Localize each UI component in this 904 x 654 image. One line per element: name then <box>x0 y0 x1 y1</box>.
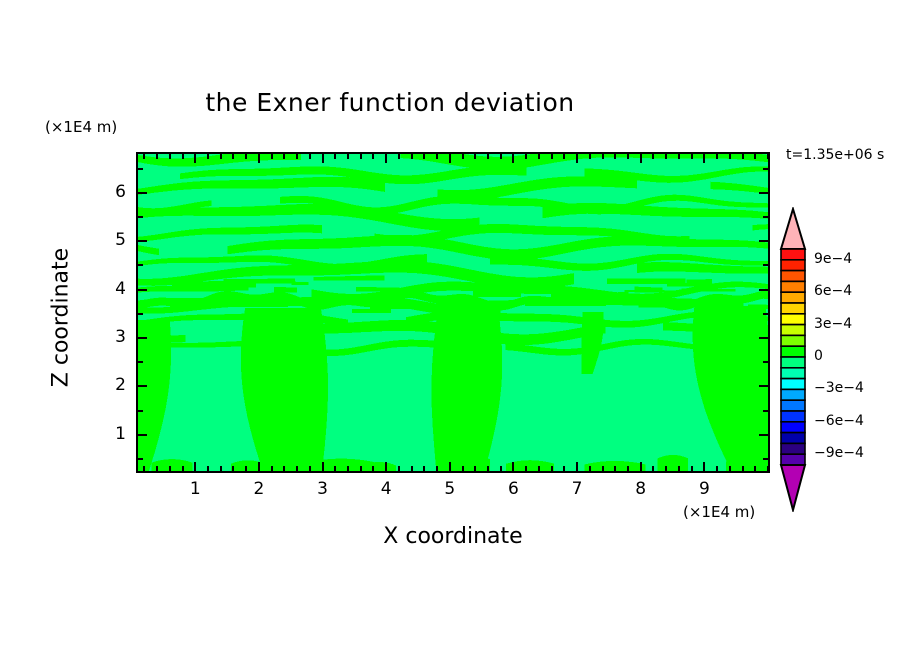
x-tick-minor <box>525 466 527 471</box>
x-tick-label: 8 <box>626 479 656 499</box>
x-axis-units-label: (×1E4 m) <box>683 503 755 521</box>
colorbar-tick-label: 0 <box>814 348 823 364</box>
x-tick-minor <box>398 154 400 159</box>
x-tick-minor <box>360 466 362 471</box>
y-tick-minor <box>138 313 143 315</box>
colorbar-band <box>781 325 805 336</box>
x-tick-major <box>449 462 451 471</box>
x-tick-minor <box>334 466 336 471</box>
y-tick-minor <box>763 410 768 412</box>
y-tick-minor <box>763 313 768 315</box>
colorbar-tick-label: 6e−4 <box>814 283 852 299</box>
x-tick-label: 2 <box>244 479 274 499</box>
x-tick-major <box>385 462 387 471</box>
x-tick-minor <box>538 154 540 159</box>
contour-band-positive <box>686 279 712 284</box>
y-tick-label: 4 <box>96 279 126 299</box>
colorbar-band <box>781 292 805 303</box>
x-tick-minor <box>474 466 476 471</box>
x-tick-minor <box>691 466 693 471</box>
y-tick-major <box>759 385 768 387</box>
colorbar-band <box>781 281 805 292</box>
x-tick-minor <box>283 154 285 159</box>
x-tick-minor <box>271 466 273 471</box>
x-tick-minor <box>742 154 744 159</box>
y-tick-major <box>759 434 768 436</box>
x-tick-minor <box>232 154 234 159</box>
x-tick-major <box>194 462 196 471</box>
x-tick-minor <box>143 154 145 159</box>
colorbar-tick-labels: 9e−46e−43e−40−3e−4−6e−4−9e−4 <box>810 207 900 512</box>
x-tick-minor <box>614 154 616 159</box>
colorbar-band <box>781 433 805 444</box>
y-tick-major <box>138 240 147 242</box>
x-tick-minor <box>182 466 184 471</box>
colorbar-band <box>781 335 805 346</box>
x-tick-minor <box>462 154 464 159</box>
x-tick-minor <box>296 466 298 471</box>
x-axis-title: X coordinate <box>136 524 770 549</box>
x-tick-minor <box>691 154 693 159</box>
x-tick-major <box>703 154 705 163</box>
x-tick-minor <box>551 154 553 159</box>
x-tick-minor <box>271 154 273 159</box>
x-tick-minor <box>729 466 731 471</box>
x-tick-major <box>258 154 260 163</box>
x-tick-minor <box>589 466 591 471</box>
colorbar-band <box>781 260 805 271</box>
y-tick-major <box>759 337 768 339</box>
y-axis-title: Z coordinate <box>49 218 74 418</box>
colorbar-tick-label: −6e−4 <box>814 413 864 429</box>
x-tick-minor <box>487 466 489 471</box>
page-title: the Exner function deviation <box>0 88 780 117</box>
y-tick-major <box>138 289 147 291</box>
x-tick-minor <box>334 154 336 159</box>
x-tick-minor <box>767 466 769 471</box>
x-tick-minor <box>143 466 145 471</box>
y-tick-minor <box>763 361 768 363</box>
colorbar-band <box>781 389 805 400</box>
colorbar-band <box>781 271 805 282</box>
plot-area <box>136 152 770 473</box>
x-tick-minor <box>525 154 527 159</box>
x-tick-major <box>576 462 578 471</box>
x-tick-minor <box>347 466 349 471</box>
colorbar-band <box>781 357 805 368</box>
x-tick-label: 7 <box>562 479 592 499</box>
x-tick-minor <box>716 466 718 471</box>
x-tick-minor <box>245 154 247 159</box>
x-tick-minor <box>411 154 413 159</box>
y-tick-major <box>138 337 147 339</box>
colorbar-band <box>781 454 805 465</box>
x-tick-major <box>322 154 324 163</box>
contour-band-positive <box>352 309 391 314</box>
x-tick-minor <box>245 466 247 471</box>
colorbar-band <box>781 411 805 422</box>
x-tick-minor <box>487 154 489 159</box>
y-tick-major <box>759 289 768 291</box>
contour-band-positive <box>658 455 689 471</box>
y-tick-minor <box>138 410 143 412</box>
x-tick-minor <box>602 466 604 471</box>
contour-field <box>138 154 768 471</box>
x-tick-label: 4 <box>371 479 401 499</box>
x-tick-minor <box>436 466 438 471</box>
x-tick-minor <box>232 466 234 471</box>
x-tick-minor <box>716 154 718 159</box>
x-tick-minor <box>156 466 158 471</box>
x-tick-minor <box>182 154 184 159</box>
x-tick-major <box>194 154 196 163</box>
x-tick-minor <box>589 154 591 159</box>
x-tick-minor <box>665 154 667 159</box>
colorbar-tick-label: −9e−4 <box>814 445 864 461</box>
time-annotation: t=1.35e+06 s <box>786 147 884 163</box>
x-tick-minor <box>754 154 756 159</box>
colorbar-band <box>781 443 805 454</box>
y-axis-units-label: (×1E4 m) <box>45 118 117 136</box>
x-tick-label: 6 <box>498 479 528 499</box>
colorbar-tick-label: 9e−4 <box>814 251 852 267</box>
y-tick-label: 6 <box>96 182 126 202</box>
x-tick-minor <box>169 154 171 159</box>
colorbar-tick-label: 3e−4 <box>814 316 852 332</box>
x-tick-minor <box>207 466 209 471</box>
x-tick-major <box>258 462 260 471</box>
colorbar-tick-label: −3e−4 <box>814 380 864 396</box>
x-tick-minor <box>347 154 349 159</box>
x-tick-minor <box>474 154 476 159</box>
y-tick-major <box>138 192 147 194</box>
x-tick-major <box>640 462 642 471</box>
x-tick-label: 1 <box>180 479 210 499</box>
x-tick-minor <box>309 466 311 471</box>
y-tick-major <box>138 385 147 387</box>
x-tick-minor <box>652 466 654 471</box>
y-tick-label: 1 <box>96 424 126 444</box>
x-tick-major <box>385 154 387 163</box>
y-tick-minor <box>763 216 768 218</box>
x-tick-minor <box>423 154 425 159</box>
x-tick-major <box>512 154 514 163</box>
y-tick-minor <box>763 458 768 460</box>
x-tick-minor <box>678 466 680 471</box>
contour-band-positive <box>224 279 295 284</box>
y-tick-minor <box>138 168 143 170</box>
colorbar-over-arrow <box>781 209 805 249</box>
x-tick-minor <box>538 466 540 471</box>
colorbar-band <box>781 303 805 314</box>
y-tick-minor <box>138 361 143 363</box>
y-tick-minor <box>763 264 768 266</box>
y-tick-major <box>759 240 768 242</box>
x-tick-major <box>512 462 514 471</box>
x-tick-minor <box>551 466 553 471</box>
x-tick-minor <box>156 154 158 159</box>
x-tick-minor <box>602 154 604 159</box>
y-tick-minor <box>138 216 143 218</box>
x-tick-label: 3 <box>308 479 338 499</box>
x-tick-minor <box>627 154 629 159</box>
y-tick-label: 2 <box>96 375 126 395</box>
x-tick-minor <box>563 154 565 159</box>
x-tick-minor <box>220 466 222 471</box>
x-tick-minor <box>411 466 413 471</box>
x-tick-minor <box>500 466 502 471</box>
x-tick-major <box>576 154 578 163</box>
x-tick-major <box>703 462 705 471</box>
x-tick-minor <box>169 466 171 471</box>
x-tick-minor <box>767 154 769 159</box>
x-tick-minor <box>283 466 285 471</box>
x-tick-major <box>449 154 451 163</box>
x-tick-minor <box>678 154 680 159</box>
y-tick-minor <box>138 458 143 460</box>
colorbar-under-arrow <box>781 465 805 510</box>
x-tick-minor <box>614 466 616 471</box>
x-tick-major <box>322 462 324 471</box>
colorbar-band <box>781 379 805 390</box>
x-tick-minor <box>754 466 756 471</box>
colorbar[interactable] <box>779 207 807 512</box>
x-tick-minor <box>220 154 222 159</box>
contour-band-positive <box>274 287 297 293</box>
x-tick-minor <box>500 154 502 159</box>
x-tick-minor <box>742 466 744 471</box>
y-tick-minor <box>763 168 768 170</box>
y-tick-label: 3 <box>96 327 126 347</box>
colorbar-band <box>781 314 805 325</box>
figure-canvas: the Exner function deviation (×1E4 m) t=… <box>0 0 904 654</box>
x-tick-minor <box>563 466 565 471</box>
x-tick-minor <box>309 154 311 159</box>
x-tick-minor <box>652 154 654 159</box>
x-tick-label: 5 <box>435 479 465 499</box>
x-tick-minor <box>398 466 400 471</box>
y-tick-label: 5 <box>96 230 126 250</box>
colorbar-band <box>781 346 805 357</box>
x-tick-minor <box>372 466 374 471</box>
x-tick-minor <box>729 154 731 159</box>
x-tick-minor <box>372 154 374 159</box>
x-tick-minor <box>665 466 667 471</box>
colorbar-band <box>781 368 805 379</box>
x-tick-minor <box>462 466 464 471</box>
y-tick-major <box>138 434 147 436</box>
colorbar-band <box>781 400 805 411</box>
x-tick-minor <box>627 466 629 471</box>
y-tick-minor <box>138 264 143 266</box>
x-tick-minor <box>296 154 298 159</box>
colorbar-band <box>781 422 805 433</box>
x-tick-minor <box>423 466 425 471</box>
x-tick-minor <box>360 154 362 159</box>
y-tick-major <box>759 192 768 194</box>
colorbar-band <box>781 249 805 260</box>
x-tick-label: 9 <box>689 479 719 499</box>
x-tick-minor <box>436 154 438 159</box>
x-tick-minor <box>207 154 209 159</box>
x-tick-major <box>640 154 642 163</box>
